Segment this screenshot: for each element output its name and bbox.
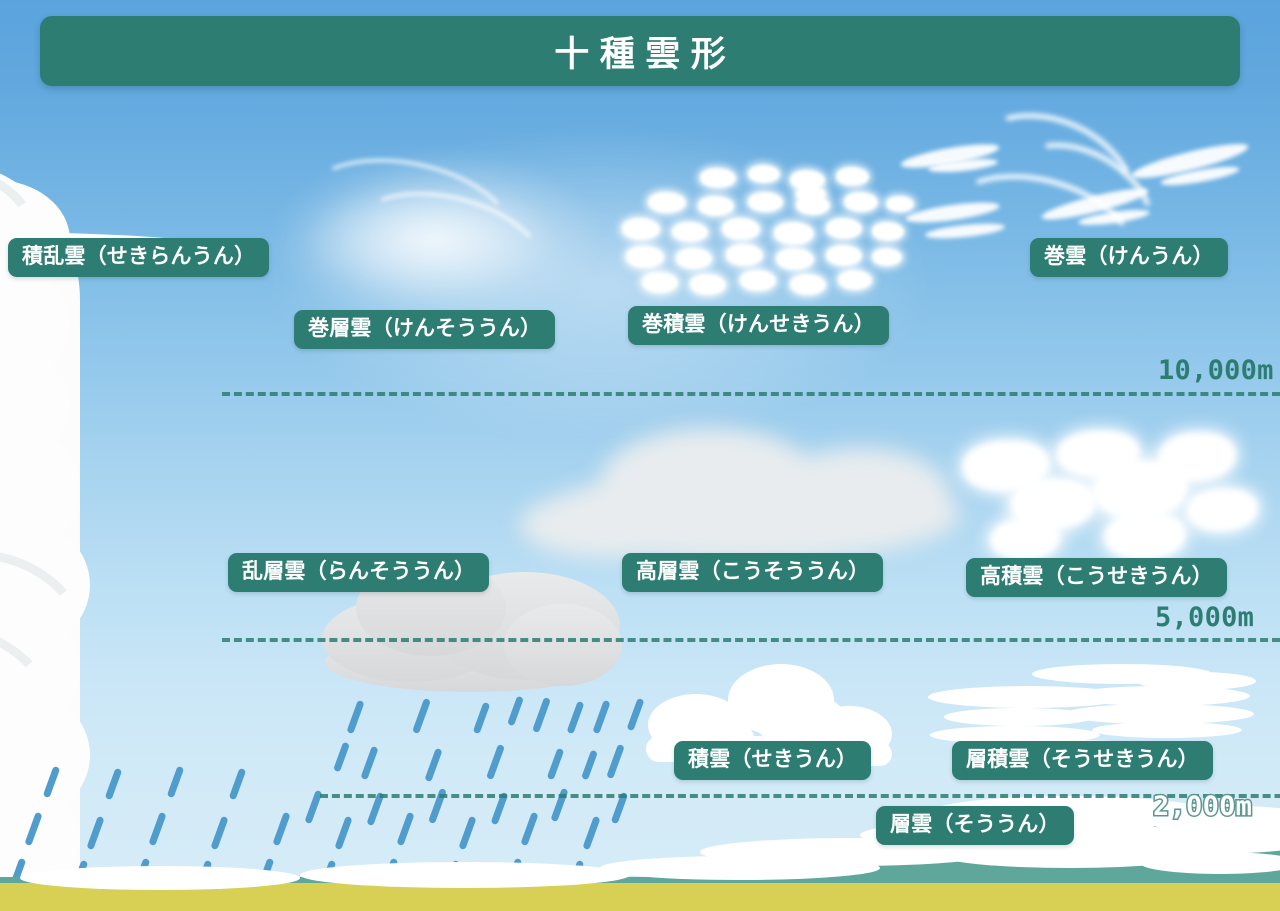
label-stratus[interactable]: 層雲（そううん） [876, 806, 1074, 845]
label-altocumulus[interactable]: 高積雲（こうせきうん） [966, 558, 1227, 597]
altitude-line-2000 [320, 794, 1280, 798]
altostratus-cloud-group [520, 400, 980, 570]
label-altostratus[interactable]: 高層雲（こうそううん） [622, 553, 883, 592]
page-title: 十種雲形 [544, 26, 737, 77]
altitude-label-10000: 10,000m [1158, 355, 1274, 386]
altitude-label-5000: 5,000m [1155, 602, 1254, 633]
label-cumulonimbus[interactable]: 積乱雲（せきらんうん） [8, 238, 269, 277]
altitude-label-2000: 2,000m [1153, 791, 1252, 822]
title-banner: 十種雲形 [40, 16, 1240, 86]
label-cumulus[interactable]: 積雲（せきうん） [674, 741, 871, 780]
altitude-line-5000 [222, 638, 1280, 642]
altitude-line-10000 [222, 392, 1280, 396]
label-cirrus[interactable]: 巻雲（けんうん） [1030, 238, 1228, 277]
label-stratocumulus[interactable]: 層積雲（そうせきうん） [952, 741, 1213, 780]
label-nimbostratus[interactable]: 乱層雲（らんそううん） [228, 553, 489, 592]
label-cirrostratus[interactable]: 巻層雲（けんそううん） [294, 310, 555, 349]
label-cirrocumulus[interactable]: 巻積雲（けんせきうん） [628, 306, 889, 345]
infographic-canvas: 10,000m 5,000m 2,000m 積乱雲（せきらんうん） 巻層雲（けん… [0, 0, 1280, 911]
